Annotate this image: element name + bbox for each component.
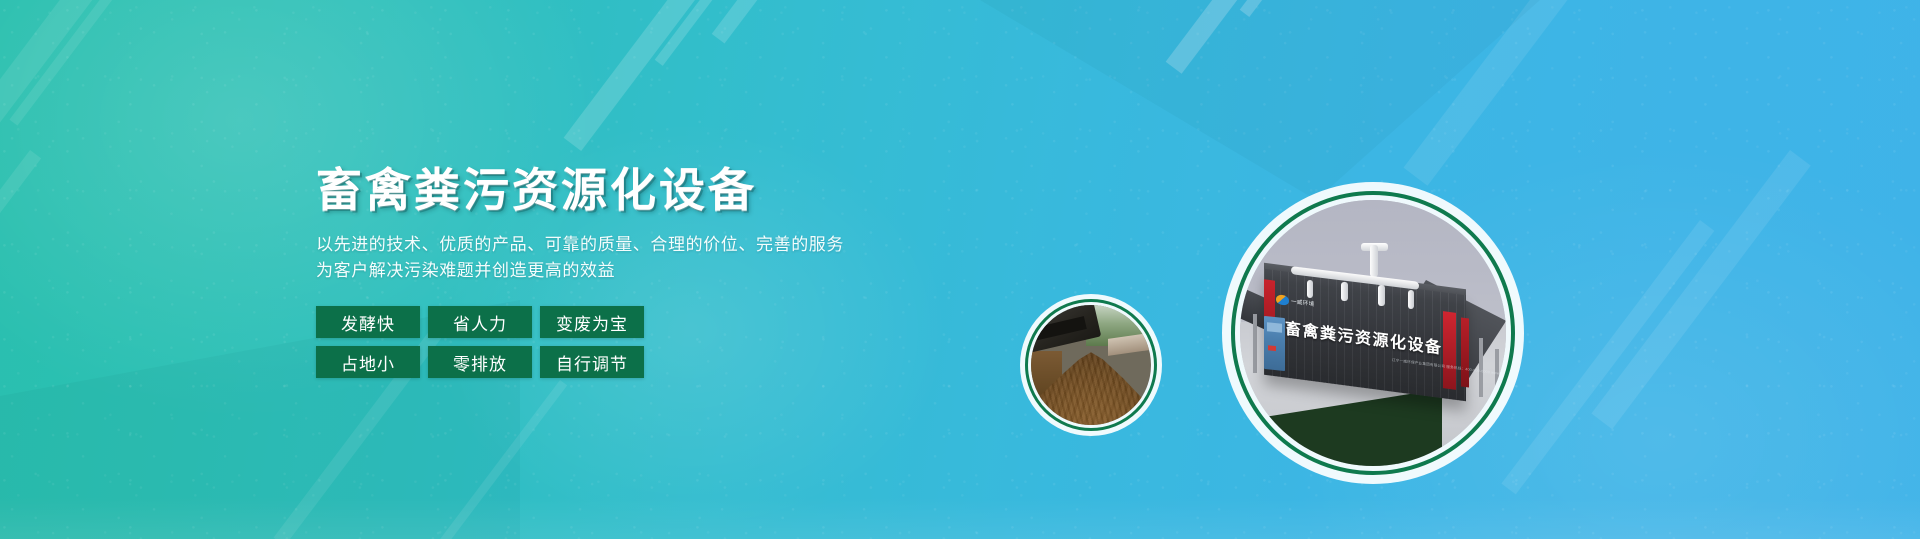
compost-pile-circle — [1020, 294, 1162, 436]
feature-tag-self-adjusting[interactable]: 自行调节 — [540, 346, 644, 378]
render-support-leg — [1479, 338, 1483, 397]
diagonal-streak — [0, 150, 41, 414]
render-pipe-drop — [1378, 285, 1385, 306]
diagonal-streak — [655, 0, 753, 66]
subtitle-line-1: 以先进的技术、优质的产品、可靠的质量、合理的价位、完善的服务 — [316, 232, 996, 258]
banner-content: 畜禽粪污资源化设备 以先进的技术、优质的产品、可靠的质量、合理的价位、完善的服务… — [316, 166, 996, 378]
banner-subtitle: 以先进的技术、优质的产品、可靠的质量、合理的价位、完善的服务 为客户解决污染难题… — [316, 232, 996, 285]
render-support-leg — [1253, 314, 1257, 373]
diagonal-streak — [0, 0, 141, 207]
background-wedge — [980, 0, 1540, 200]
equipment-3d-render: 一威环境 畜禽粪污资源化设备 辽宁一威环保产业集团有限公司 服务热线：400-0… — [1240, 200, 1506, 466]
hero-banner: 畜禽粪污资源化设备 以先进的技术、优质的产品、可靠的质量、合理的价位、完善的服务… — [0, 0, 1920, 539]
diagonal-streak — [1166, 0, 1296, 74]
render-pipe-drop — [1408, 290, 1415, 309]
feature-tag-waste-to-treasure[interactable]: 变废为宝 — [540, 306, 644, 338]
render-pipe-stack — [1370, 245, 1378, 277]
feature-tag-labor-saving[interactable]: 省人力 — [428, 306, 532, 338]
diagonal-streak — [1240, 0, 1340, 17]
cabinet-screen — [1267, 323, 1282, 333]
diagonal-streak — [1591, 150, 1810, 429]
diagonal-streak — [1501, 220, 1714, 494]
render-control-cabinet — [1264, 316, 1285, 371]
feature-tag-zero-emission[interactable]: 零排放 — [428, 346, 532, 378]
subtitle-line-2: 为客户解决污染难题并创造更高的效益 — [316, 258, 996, 284]
page-title: 畜禽粪污资源化设备 — [316, 166, 996, 216]
render-red-panel-right-2 — [1461, 318, 1469, 388]
diagonal-streak — [564, 0, 708, 151]
feature-tag-fermentation-fast[interactable]: 发酵快 — [316, 306, 420, 338]
diagonal-streak — [440, 380, 568, 539]
render-pipe-drop — [1341, 282, 1348, 301]
cabinet-button — [1268, 345, 1277, 351]
equipment-render-circle: 一威环境 畜禽粪污资源化设备 辽宁一威环保产业集团有限公司 服务热线：400-0… — [1222, 182, 1524, 484]
feature-tag-list: 发酵快 省人力 变废为宝 占地小 零排放 自行调节 — [316, 306, 656, 378]
bottom-fade — [0, 497, 1920, 539]
diagonal-streak — [712, 0, 803, 43]
compost-pile-photo — [1031, 305, 1151, 425]
diagonal-streak — [1404, 0, 1584, 186]
diagonal-streak — [9, 0, 198, 126]
feature-tag-small-footprint[interactable]: 占地小 — [316, 346, 420, 378]
